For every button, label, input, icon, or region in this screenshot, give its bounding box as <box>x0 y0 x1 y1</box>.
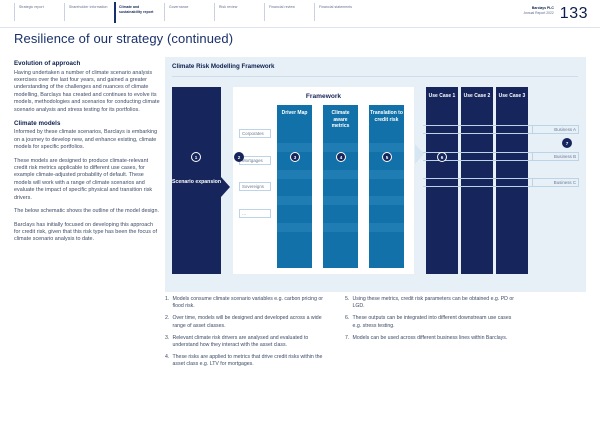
section-navigation: Strategic report Shareholder information… <box>0 0 600 27</box>
paragraph-climate-models-2: These models are designed to produce cli… <box>14 158 160 202</box>
footnotes-right-column: 5. Using these metrics, credit risk para… <box>345 296 514 374</box>
diagram-title: Climate Risk Modelling Framework <box>172 63 274 70</box>
nav-tab-shareholder-information[interactable]: Shareholder information <box>64 0 114 27</box>
stage-driver-map: Driver Map <box>277 105 312 268</box>
badge-4: 4 <box>336 152 346 162</box>
nav-tab-risk-review[interactable]: Risk review <box>214 0 264 27</box>
footnote-1-text: Models consume climate scenario variable… <box>173 296 335 310</box>
stage-row <box>277 223 312 232</box>
footnote-3: 3. Relevant climate risk drivers are ana… <box>165 335 334 349</box>
brand-identifier: Barclays PLC Annual Report 2022 <box>524 6 554 15</box>
footnote-7: 7. Models can be used across different b… <box>345 335 514 342</box>
paragraph-evolution-body: Having undertaken a number of climate sc… <box>14 70 160 114</box>
stage-climate-aware-metrics-label: Climate aware metrics <box>324 110 357 130</box>
scenario-arrow-icon <box>221 177 230 197</box>
business-label-a: Business A <box>532 125 579 134</box>
footnote-3-text: Relevant climate risk drivers are analys… <box>173 335 335 349</box>
badge-2: 2 <box>234 152 244 162</box>
footnote-5: 5. Using these metrics, credit risk para… <box>345 296 514 310</box>
footnote-4-text: These risks are applied to metrics that … <box>173 354 335 368</box>
framework-label: Framework <box>233 93 414 100</box>
nav-tab-strategic-report[interactable]: Strategic report <box>14 0 64 27</box>
badge-1: 1 <box>191 152 201 162</box>
header-divider <box>0 27 600 28</box>
footnote-2-text: Over time, models will be designed and d… <box>173 315 335 329</box>
footnote-3-number: 3. <box>165 335 170 349</box>
asset-class-corporates: Corporates <box>239 129 271 138</box>
nav-tab-climate-and-sustainability-report[interactable]: Climate and sustainability report <box>114 0 164 27</box>
badge-6: 6 <box>437 152 447 162</box>
footnote-2: 2. Over time, models will be designed an… <box>165 315 334 329</box>
badge-7: 7 <box>562 138 572 148</box>
badge-3: 3 <box>290 152 300 162</box>
footnote-4-number: 4. <box>165 354 170 368</box>
stage-row <box>369 223 404 232</box>
stage-row <box>369 170 404 179</box>
stage-row <box>323 223 358 232</box>
stage-row <box>323 170 358 179</box>
report-name: Annual Report 2022 <box>524 11 554 16</box>
stage-row <box>369 143 404 152</box>
footnote-6-number: 6. <box>345 315 350 329</box>
footnote-5-number: 5. <box>345 296 350 310</box>
paragraph-climate-models-1: Informed by these climate scenarios, Bar… <box>14 129 160 151</box>
heading-evolution-of-approach: Evolution of approach <box>14 60 160 67</box>
paragraph-climate-models-4: Barclays has initially focused on develo… <box>14 222 160 244</box>
stage-climate-aware-metrics: Climate aware metrics <box>323 105 358 268</box>
heading-climate-models: Climate models <box>14 120 160 127</box>
page-number: 133 <box>560 6 588 21</box>
stage-row <box>277 170 312 179</box>
business-label-c: Business C <box>532 178 579 187</box>
report-page: Strategic report Shareholder information… <box>0 0 600 423</box>
stage-translation-to-credit-risk: Translation to credit risk <box>369 105 404 268</box>
stage-translation-to-credit-risk-label: Translation to credit risk <box>370 110 403 123</box>
chevron-right-icon <box>312 146 320 162</box>
footnote-4: 4. These risks are applied to metrics th… <box>165 354 334 368</box>
nav-tab-governance[interactable]: Governance <box>164 0 214 27</box>
stage-row <box>323 143 358 152</box>
scenario-expansion-block: Scenario expansion <box>172 87 221 274</box>
footnote-7-number: 7. <box>345 335 350 342</box>
nav-tab-list: Strategic report Shareholder information… <box>14 0 364 27</box>
footnote-6-text: These outputs can be integrated into dif… <box>353 315 515 329</box>
footnotes-left-column: 1. Models consume climate scenario varia… <box>165 296 334 374</box>
stage-row <box>369 196 404 205</box>
stage-row <box>323 196 358 205</box>
page-title: Resilience of our strategy (continued) <box>14 31 233 46</box>
diagram-footnotes: 1. Models consume climate scenario varia… <box>165 296 586 374</box>
asset-class-list: Corporates Mortgages Sovereigns … <box>239 129 271 235</box>
footnote-6: 6. These outputs can be integrated into … <box>345 315 514 329</box>
nav-tab-financial-review[interactable]: Financial review <box>264 0 314 27</box>
stage-row <box>277 143 312 152</box>
scenario-expansion-label: Scenario expansion <box>172 179 221 186</box>
climate-risk-modelling-framework-panel: Climate Risk Modelling Framework Scenari… <box>165 57 586 292</box>
use-case-1-label: Use Case 1 <box>426 93 458 100</box>
diagram-canvas: Scenario expansion 1 Framework Corporate… <box>172 83 579 283</box>
paragraph-climate-models-3: The below schematic shows the outline of… <box>14 208 160 215</box>
asset-class-sovereigns: Sovereigns <box>239 182 271 191</box>
diagram-title-divider <box>172 76 578 77</box>
asset-class-more: … <box>239 209 271 218</box>
chevron-right-icon <box>358 146 366 162</box>
stage-driver-map-label: Driver Map <box>278 110 311 117</box>
framework-container: Framework Corporates Mortgages Sovereign… <box>233 87 414 274</box>
narrative-column: Evolution of approach Having undertaken … <box>14 60 160 250</box>
stage-row <box>277 196 312 205</box>
nav-tab-financial-statements[interactable]: Financial statements <box>314 0 364 27</box>
business-label-b: Business B <box>532 152 579 161</box>
use-case-3-label: Use Case 3 <box>496 93 528 100</box>
footnote-1: 1. Models consume climate scenario varia… <box>165 296 334 310</box>
use-case-2-label: Use Case 2 <box>461 93 493 100</box>
footnote-7-text: Models can be used across different busi… <box>353 335 508 342</box>
footnote-5-text: Using these metrics, credit risk paramet… <box>353 296 515 310</box>
footnote-1-number: 1. <box>165 296 170 310</box>
header-brand-block: Barclays PLC Annual Report 2022 133 <box>524 0 600 27</box>
badge-5: 5 <box>382 152 392 162</box>
footnote-2-number: 2. <box>165 315 170 329</box>
